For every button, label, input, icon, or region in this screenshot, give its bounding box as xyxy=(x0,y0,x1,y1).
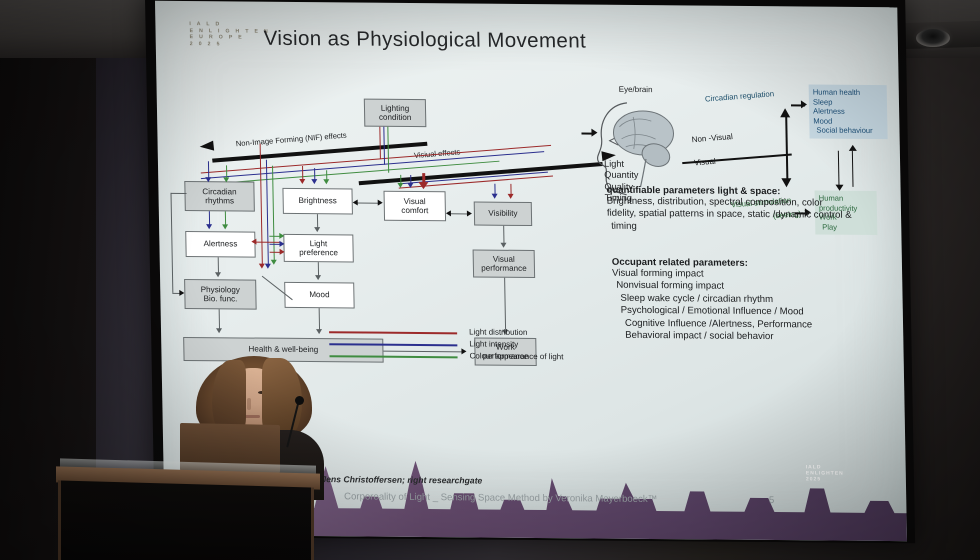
occupant-line: Psychological / Emotional Influence / Mo… xyxy=(613,305,812,319)
visibility-to-vp-line xyxy=(503,226,504,244)
red-arrowhead-icon xyxy=(299,179,305,184)
black-arrowhead-icon xyxy=(591,129,597,137)
black-arrowhead-icon xyxy=(179,290,184,296)
green-arrowhead-icon xyxy=(223,177,229,182)
physio-to-health-line xyxy=(219,309,220,329)
legend-label: Colour appearance of light xyxy=(469,351,563,361)
slide-page-number: 5 xyxy=(769,495,775,506)
green-arrowhead-icon xyxy=(271,260,277,265)
human-health-item: Mood xyxy=(813,116,883,126)
node-brightness: Brightness xyxy=(282,188,352,215)
eye-brain-label: Eye/brain xyxy=(619,85,653,94)
node-label: Visual performance xyxy=(481,254,527,273)
human-health-item: Alertness xyxy=(813,107,883,117)
legend-label: Light intensity xyxy=(469,339,518,348)
blue-circ-to-alert xyxy=(209,211,210,225)
black-arrowhead-icon xyxy=(446,210,451,216)
watermark-line: 2025 xyxy=(806,476,844,482)
green-arrowhead-icon xyxy=(323,179,329,184)
black-arrowhead-icon xyxy=(461,348,466,354)
blue-arrowhead-icon xyxy=(279,241,284,247)
node-mood: Mood xyxy=(284,282,354,309)
box-link-up xyxy=(852,151,854,187)
alert-to-physiology-line xyxy=(218,257,219,273)
red-into-brightness xyxy=(302,166,303,180)
black-arrowhead-icon xyxy=(849,145,857,151)
red-feedback-line xyxy=(260,144,263,266)
red-arrowhead-icon xyxy=(251,239,256,245)
node-light-preference: Light preference xyxy=(283,234,354,263)
red-drop-from-lighting xyxy=(379,127,381,159)
lectern-body xyxy=(58,480,314,560)
blue-arrowhead-icon xyxy=(205,177,211,182)
blue-arrowhead-icon xyxy=(206,224,212,229)
brightness-to-pref-line xyxy=(317,214,318,228)
node-lighting-condition: Lighting condition xyxy=(364,99,427,128)
black-arrowhead-icon xyxy=(215,272,221,277)
box-link-down xyxy=(838,151,840,187)
outer-loop-top xyxy=(171,193,187,194)
split-vertical-line xyxy=(785,116,788,180)
node-circadian-rhythms: Circadian rhythms xyxy=(184,181,255,212)
microphone-icon xyxy=(295,396,304,405)
black-arrowhead-icon xyxy=(500,243,506,248)
presentation-photo-scene: I A L D E N L I G H T E N E U R O P E 2 … xyxy=(0,0,980,560)
quantifiable-line: timing xyxy=(607,220,852,235)
vp-to-work-line xyxy=(504,278,506,330)
quantifiable-parameters-block: quantifiable parameters light & space: B… xyxy=(606,185,852,235)
red-to-alertness xyxy=(255,242,281,243)
node-visibility: Visibility xyxy=(474,202,532,227)
mood-to-health-line xyxy=(319,308,320,330)
iald-watermark: IALD ENLIGHTEN 2025 xyxy=(806,464,844,482)
health-to-work-line xyxy=(383,351,463,353)
ceiling-downlight-icon xyxy=(916,29,950,47)
node-label: Visibility xyxy=(488,209,517,219)
black-arrowhead-icon xyxy=(801,100,807,108)
legend-label: Light distribution xyxy=(469,327,527,337)
node-label: Health & well-being xyxy=(248,345,318,355)
node-label: Brightness xyxy=(298,196,336,206)
node-label: Lighting condition xyxy=(379,103,412,122)
black-arrowhead-icon xyxy=(316,329,322,334)
node-alertness: Alertness xyxy=(185,231,255,258)
logo-line: 2 0 2 5 xyxy=(190,41,271,48)
node-label: Visual comfort xyxy=(401,196,428,215)
pref-to-mood-line xyxy=(318,262,319,276)
non-visual-path-label: Non -Visual xyxy=(691,132,733,144)
occupant-line: Behavioral impact / social behavior xyxy=(613,330,812,344)
nif-arrow-head-icon xyxy=(199,141,214,152)
human-health-box: Human health Sleep Alertness Mood Social… xyxy=(809,84,888,138)
slide-title: Vision as Physiological Movement xyxy=(263,27,586,54)
light-property: Light xyxy=(604,159,638,171)
black-arrowhead-icon xyxy=(314,227,320,232)
blue-arrowhead-icon xyxy=(492,194,498,199)
black-arrowhead-icon xyxy=(315,275,321,280)
node-label: Physiology Bio. func. xyxy=(201,285,241,304)
black-arrowhead-icon xyxy=(216,328,222,333)
nose xyxy=(247,398,251,410)
human-health-item: Social behaviour xyxy=(813,126,883,136)
circadian-regulation-label: Circadian regulation xyxy=(705,89,775,103)
node-physiology: Physiology Bio. func. xyxy=(184,279,257,310)
quantifiable-line: fidelity, spatial patterns in space, sta… xyxy=(607,208,852,223)
green-arrowhead-icon xyxy=(397,183,403,188)
red-arrowhead-icon xyxy=(418,182,428,189)
green-circ-to-alert xyxy=(225,211,226,225)
light-property: Quantity xyxy=(604,170,638,182)
node-label: Alertness xyxy=(203,239,237,249)
occupant-parameters-block: Occupant related parameters: Visual form… xyxy=(612,257,813,344)
nif-arrow-label: Non-Image Forming (NIF) effects xyxy=(235,131,347,149)
node-label: Circadian rhythms xyxy=(202,187,237,206)
visual-path-label: Visual xyxy=(694,157,716,168)
footer-credit: edit Jens Christoffersen; right research… xyxy=(304,474,483,486)
green-drop-from-lighting xyxy=(387,127,389,173)
black-arrowhead-icon xyxy=(780,108,790,117)
blue-arrowhead-icon xyxy=(407,183,413,188)
black-arrowhead-icon xyxy=(353,199,358,205)
human-health-item: Human health xyxy=(813,88,883,98)
node-visual-comfort: Visual comfort xyxy=(384,191,447,222)
node-label: Mood xyxy=(309,290,329,300)
node-visual-performance: Visual performance xyxy=(473,249,536,278)
black-arrowhead-icon xyxy=(378,200,383,206)
red-arrowhead-icon xyxy=(508,194,514,199)
outer-loop-vertical xyxy=(171,193,174,293)
black-arrowhead-icon xyxy=(467,210,472,216)
green-feedback-line xyxy=(272,166,275,262)
red-arrowhead-icon xyxy=(280,249,285,255)
eye-brain-illustration: Eye/brain Light Quantity Quality Timing xyxy=(595,85,898,268)
node-label: Light preference xyxy=(299,239,338,258)
green-arrowhead-icon xyxy=(279,233,284,239)
blue-arrowhead-icon xyxy=(311,179,317,184)
iald-logo: I A L D E N L I G H T E N E U R O P E 2 … xyxy=(189,21,270,48)
blue-feedback-line xyxy=(266,160,269,266)
green-arrowhead-icon xyxy=(222,224,228,229)
